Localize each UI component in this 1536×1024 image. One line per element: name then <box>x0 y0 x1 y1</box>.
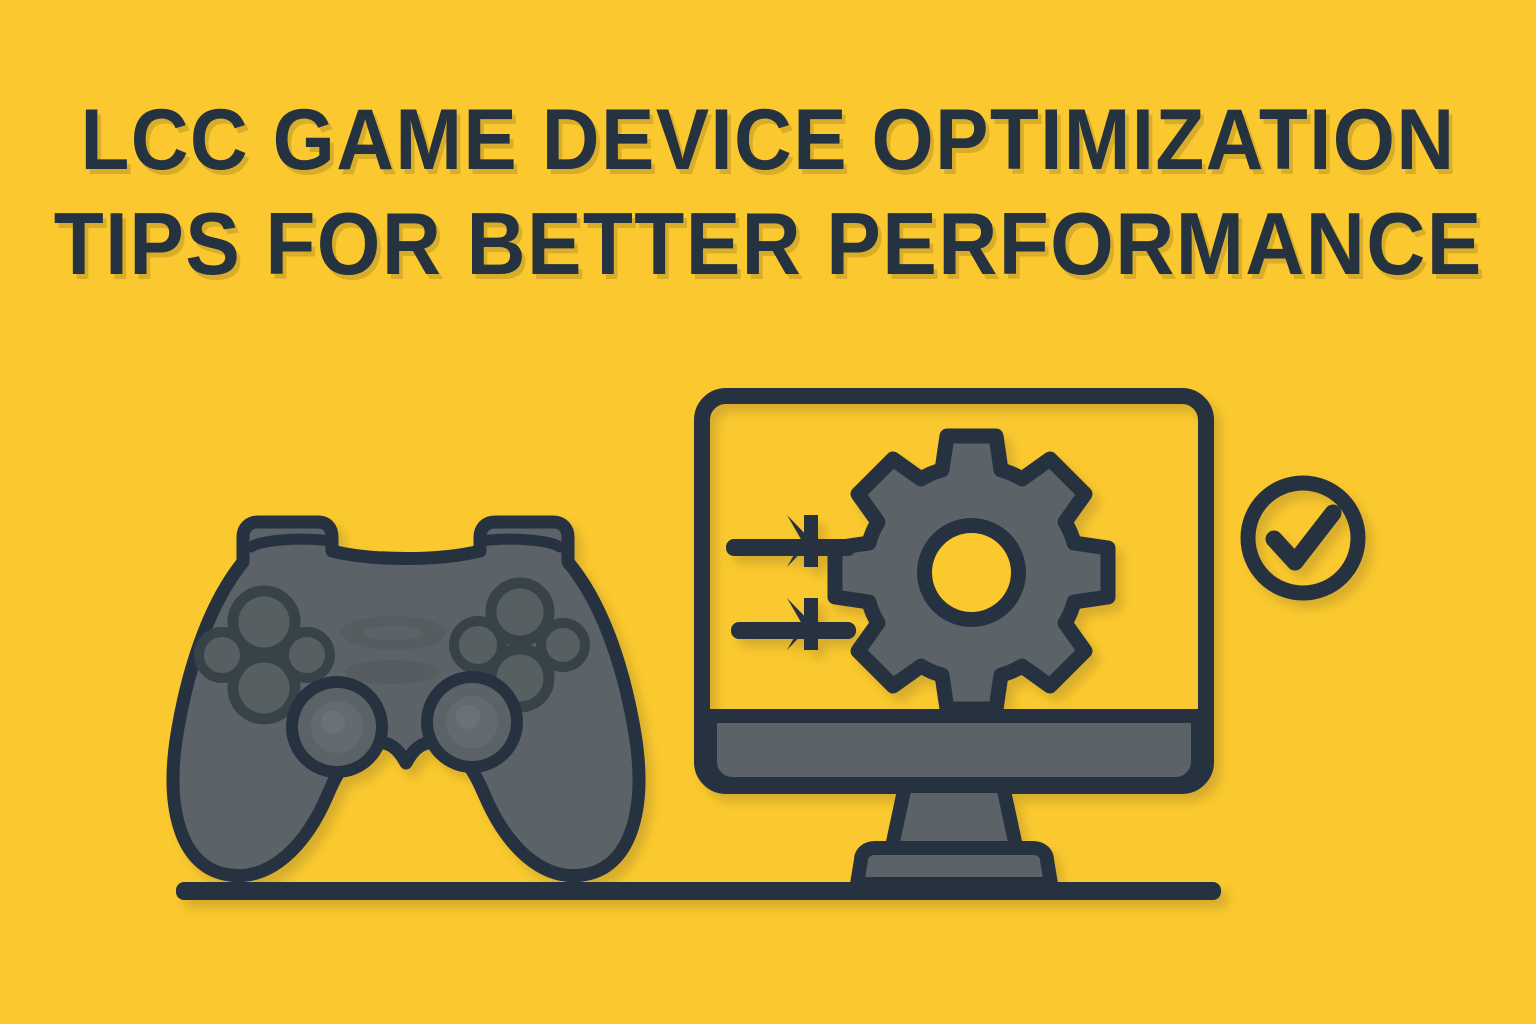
lower-bezel-bar <box>710 716 1198 784</box>
ground-line <box>176 882 1221 900</box>
monitor-icon <box>702 396 1206 884</box>
check-badge-icon <box>1248 483 1358 593</box>
settings-gear-icon <box>835 436 1108 709</box>
right-analog-stick <box>427 677 517 767</box>
monitor-base <box>857 848 1051 884</box>
illustration <box>0 0 1536 1024</box>
game-controller-icon <box>173 522 639 876</box>
left-analog-stick <box>292 682 382 772</box>
slider-control-bottom[interactable] <box>731 598 856 650</box>
poster-canvas: LCC Game Device Optimization Tips for Be… <box>0 0 1536 1024</box>
